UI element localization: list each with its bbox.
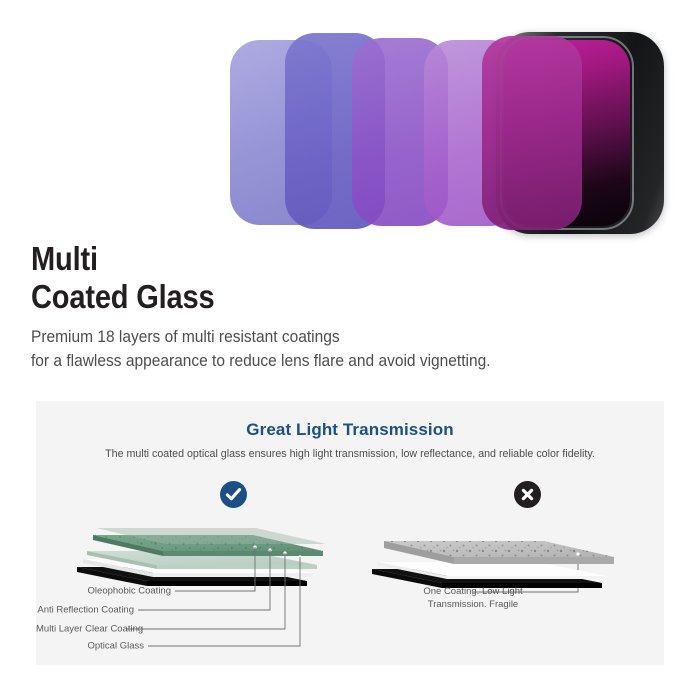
callout-anti-reflection-coating: Anti Reflection Coating — [36, 605, 134, 616]
page-title-line2: Coated Glass — [31, 278, 214, 316]
callout-optical-glass: Optical Glass — [36, 641, 144, 652]
page-subtitle-line1: Premium 18 layers of multi resistant coa… — [31, 326, 491, 350]
caption-single-coating: One Coating. Low Light Transmission. Fra… — [361, 586, 585, 612]
filter-plate-5 — [482, 36, 582, 230]
callout-multi-layer-clear-coating: Multi Layer Clear Coating — [36, 624, 122, 635]
page-subtitle: Premium 18 layers of multi resistant coa… — [31, 326, 491, 374]
caption-single-coating-line2: Transmission. Fragile — [361, 599, 585, 612]
page-title: Multi Coated Glass — [31, 240, 214, 316]
light-transmission-panel: Great Light Transmission The multi coate… — [36, 401, 664, 665]
page-subtitle-line2: for a flawless appearance to reduce lens… — [31, 350, 491, 374]
page-title-line1: Multi — [31, 240, 214, 278]
hero-filter-stack — [0, 0, 700, 250]
caption-single-coating-line1: One Coating. Low Light — [361, 586, 585, 599]
callout-oleophobic-coating: Oleophobic Coating — [36, 586, 171, 597]
